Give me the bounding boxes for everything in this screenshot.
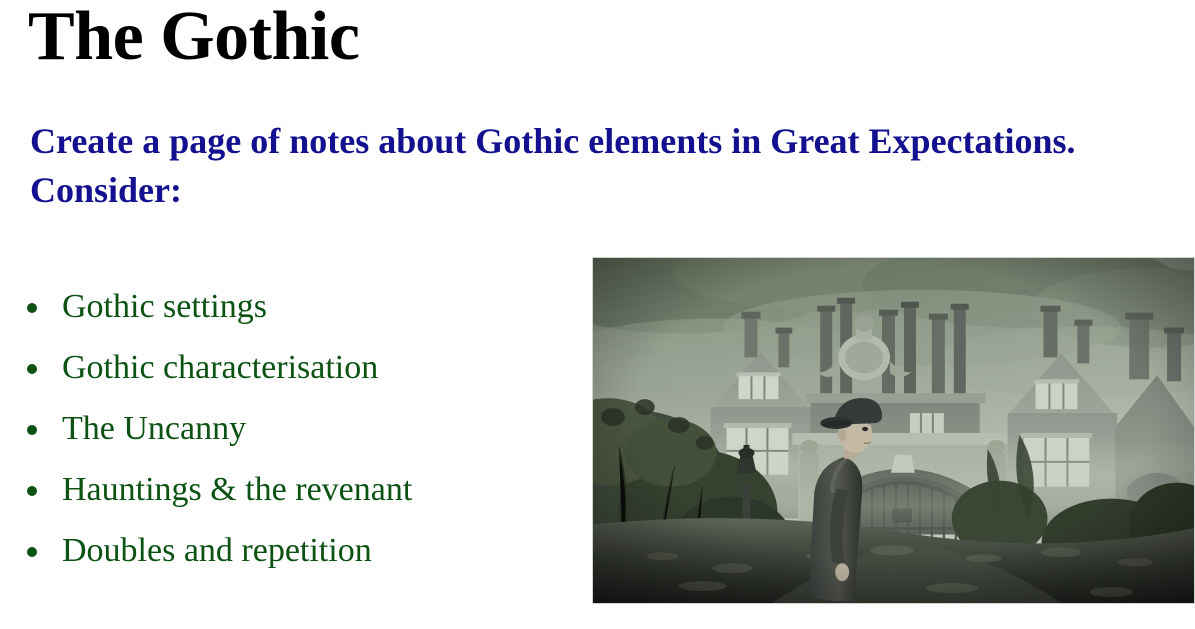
bullet-dot-icon: [27, 303, 37, 313]
bullet-dot-icon: [27, 364, 37, 374]
list-item: Doubles and repetition: [18, 528, 583, 575]
gothic-elements-list: Gothic settings Gothic characterisation …: [18, 284, 583, 589]
list-item-label: Gothic characterisation: [62, 349, 378, 386]
list-item: The Uncanny: [18, 406, 583, 453]
page-title: The Gothic: [28, 2, 359, 72]
list-item-label: Doubles and repetition: [62, 532, 372, 569]
list-item-label: The Uncanny: [62, 410, 246, 447]
bullet-dot-icon: [27, 547, 37, 557]
list-item: Hauntings & the revenant: [18, 467, 583, 514]
slide: The Gothic Create a page of notes about …: [0, 0, 1195, 629]
slide-subtitle: Create a page of notes about Gothic elem…: [30, 117, 1140, 214]
vignette: [593, 258, 1194, 603]
list-item-label: Hauntings & the revenant: [62, 471, 412, 508]
list-item: Gothic settings: [18, 284, 583, 331]
gothic-manor-illustration: [593, 258, 1194, 603]
list-item-label: Gothic settings: [62, 288, 267, 325]
gothic-manor-photo: [592, 257, 1195, 604]
bullet-dot-icon: [27, 425, 37, 435]
bullet-dot-icon: [27, 486, 37, 496]
list-item: Gothic characterisation: [18, 345, 583, 392]
